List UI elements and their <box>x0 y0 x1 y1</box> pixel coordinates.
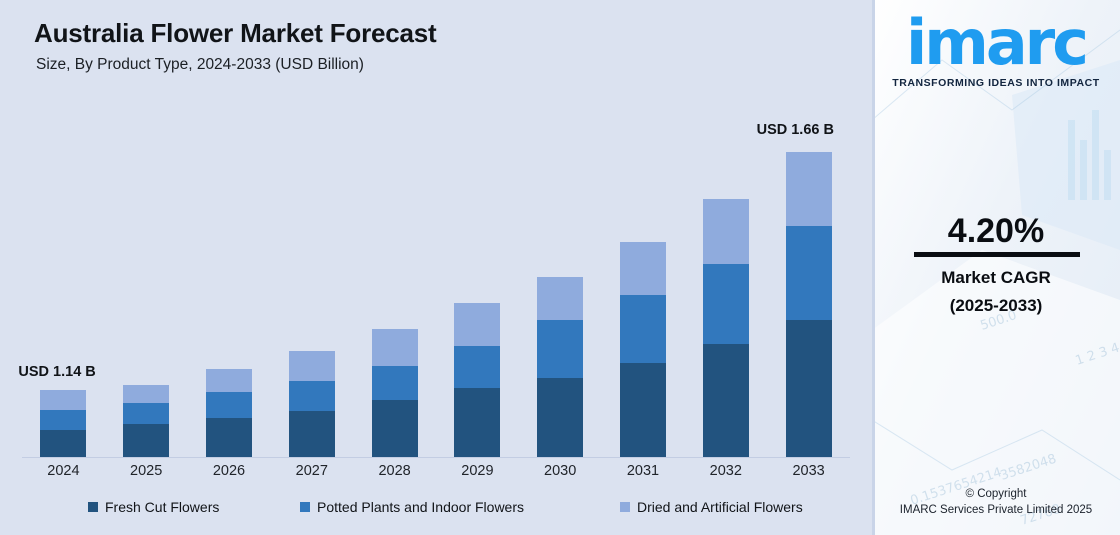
bar-segment <box>40 410 86 430</box>
bar-segment <box>703 199 749 264</box>
bar-segment <box>289 381 335 411</box>
bar-segment <box>537 378 583 457</box>
cagr-period: (2025-2033) <box>872 296 1120 316</box>
bar-segment <box>537 277 583 320</box>
x-axis-tick-2031: 2031 <box>603 463 683 479</box>
legend-swatch-icon <box>620 502 630 512</box>
bar-segment <box>289 351 335 381</box>
bar-segment <box>703 344 749 457</box>
bar-segment <box>40 430 86 457</box>
x-axis-tick-2032: 2032 <box>686 463 766 479</box>
bar-group <box>123 385 169 457</box>
bar-segment <box>372 366 418 400</box>
chart-legend: Fresh Cut FlowersPotted Plants and Indoo… <box>0 499 872 523</box>
chart-page: Australia Flower Market Forecast Size, B… <box>0 0 1120 535</box>
bar-group <box>289 351 335 457</box>
bar-group <box>786 152 832 457</box>
imarc-logo: imarc TRANSFORMING IDEAS INTO IMPACT <box>872 14 1120 89</box>
bar-segment <box>620 363 666 457</box>
chart-panel: Australia Flower Market Forecast Size, B… <box>0 0 872 535</box>
bar-segment <box>123 385 169 403</box>
x-axis-tick-2033: 2033 <box>769 463 849 479</box>
cagr-value: 4.20% <box>872 212 1120 251</box>
bar-segment <box>537 320 583 378</box>
bar-segment <box>703 264 749 344</box>
bar-segment <box>620 295 666 363</box>
x-axis-tick-2024: 2024 <box>23 463 103 479</box>
bar-segment <box>206 392 252 418</box>
bar-group <box>206 369 252 457</box>
bar-segment <box>206 418 252 457</box>
page-title: Australia Flower Market Forecast <box>34 18 437 49</box>
x-axis-tick-2026: 2026 <box>189 463 269 479</box>
legend-label: Fresh Cut Flowers <box>105 499 219 515</box>
legend-item[interactable]: Fresh Cut Flowers <box>88 499 219 515</box>
x-axis-tick-2027: 2027 <box>272 463 352 479</box>
bar-segment <box>123 403 169 424</box>
bar-segment <box>786 226 832 320</box>
last-value-label: USD 1.66 B <box>757 122 834 138</box>
bar-group <box>40 390 86 457</box>
bar-segment <box>786 152 832 226</box>
x-axis-labels: 2024202520262027202820292030203120322033 <box>0 463 872 489</box>
bar-segment <box>289 411 335 457</box>
x-axis-tick-2025: 2025 <box>106 463 186 479</box>
bar-segment <box>454 388 500 457</box>
legend-label: Dried and Artificial Flowers <box>637 499 803 515</box>
bar-group <box>454 303 500 457</box>
x-axis-tick-2030: 2030 <box>520 463 600 479</box>
legend-item[interactable]: Dried and Artificial Flowers <box>620 499 803 515</box>
copyright-line-2: IMARC Services Private Limited 2025 <box>872 502 1120 519</box>
bar-group <box>620 242 666 457</box>
bar-segment <box>786 320 832 457</box>
first-value-label: USD 1.14 B <box>18 364 95 380</box>
bar-group <box>537 277 583 457</box>
bar-group <box>372 329 418 457</box>
bar-segment <box>123 424 169 457</box>
brand-panel: 0.1537654214 500.0 3582048 72768 1 2 3 4… <box>872 0 1120 535</box>
page-subtitle: Size, By Product Type, 2024-2033 (USD Bi… <box>36 56 364 74</box>
bar-segment <box>454 303 500 346</box>
bar-segment <box>372 329 418 366</box>
legend-label: Potted Plants and Indoor Flowers <box>317 499 524 515</box>
bar-group <box>703 199 749 457</box>
cagr-label: Market CAGR <box>872 268 1120 288</box>
copyright-line-1: © Copyright <box>872 486 1120 503</box>
bar-segment <box>620 242 666 295</box>
logo-wordmark: imarc <box>872 14 1120 73</box>
legend-swatch-icon <box>300 502 310 512</box>
x-axis-tick-2029: 2029 <box>437 463 517 479</box>
legend-item[interactable]: Potted Plants and Indoor Flowers <box>300 499 524 515</box>
logo-tagline: TRANSFORMING IDEAS INTO IMPACT <box>872 77 1120 89</box>
legend-swatch-icon <box>88 502 98 512</box>
cagr-rule <box>914 252 1080 257</box>
x-axis-tick-2028: 2028 <box>355 463 435 479</box>
x-axis-line <box>22 457 850 458</box>
bar-segment <box>206 369 252 392</box>
bar-segment <box>454 346 500 388</box>
bar-segment <box>372 400 418 457</box>
bar-segment <box>40 390 86 410</box>
copyright-notice: © Copyright IMARC Services Private Limit… <box>872 486 1120 519</box>
